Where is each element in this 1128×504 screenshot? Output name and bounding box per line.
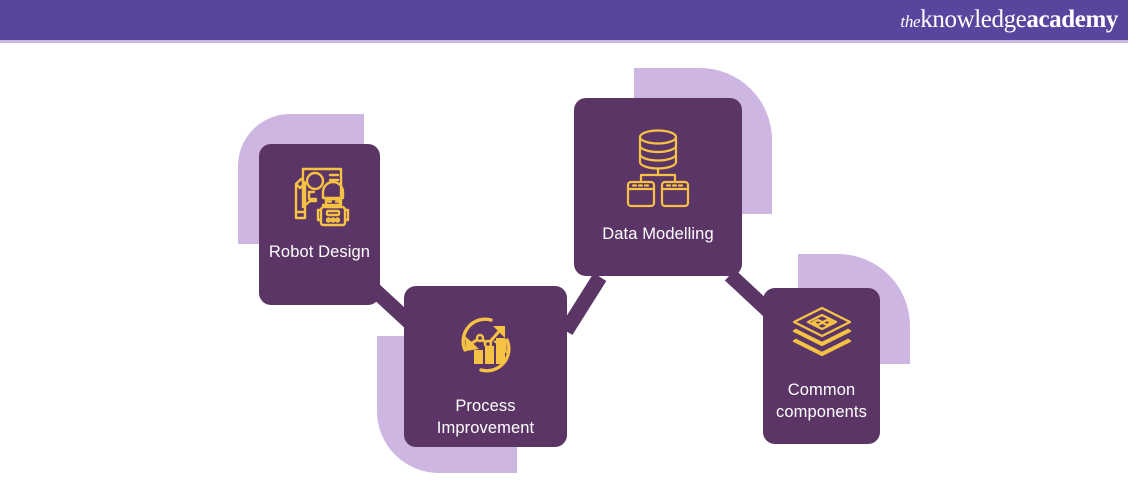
node-card-process-improvement[interactable]: Process Improvement	[404, 286, 567, 447]
node-label-line-2: Improvement	[437, 419, 534, 437]
node-label-line-1: Process	[455, 397, 515, 415]
node-label-line-1: Common	[788, 381, 856, 399]
node-label-process-improvement: Process Improvement	[431, 396, 540, 440]
node-label-line-2: components	[776, 403, 867, 421]
node-card-data-modelling[interactable]: Data Modelling	[574, 98, 742, 276]
brand-academy: academy	[1026, 6, 1118, 34]
node-label-robot-design: Robot Design	[263, 242, 376, 264]
header-bar: theknowledgeacademy	[0, 0, 1128, 40]
node-card-robot-design[interactable]: Robot Design	[259, 144, 380, 305]
brand-logo: theknowledgeacademy	[900, 6, 1118, 34]
node-label-common-components: Common components	[770, 380, 873, 424]
connector-process-to-data	[566, 277, 600, 331]
page-root: theknowledgeacademy	[0, 0, 1128, 504]
stacked-layers-icon	[790, 304, 854, 368]
node-card-common-components[interactable]: Common components	[763, 288, 880, 444]
brand-knowledge: knowledge	[920, 6, 1026, 34]
flow-diagram: Robot Design	[0, 43, 1128, 504]
growth-cycle-chart-icon	[449, 308, 523, 382]
database-nodes-icon	[616, 124, 700, 208]
node-label-data-modelling: Data Modelling	[596, 224, 719, 246]
brand-the: the	[900, 12, 920, 32]
robot-blueprint-icon	[283, 158, 357, 232]
